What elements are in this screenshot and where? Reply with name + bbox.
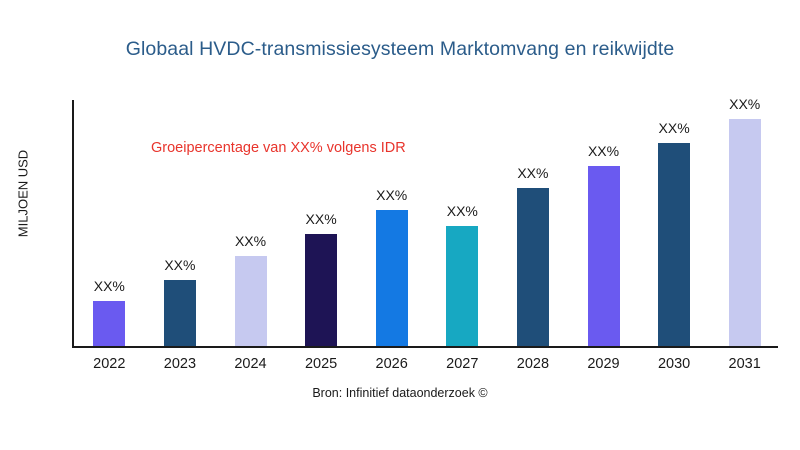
- bar-value-label: XX%: [447, 203, 478, 219]
- bar-2022: XX%: [93, 301, 125, 346]
- x-tick-2028: 2028: [517, 356, 549, 372]
- bar-2026: XX%: [376, 210, 408, 346]
- bar-value-label: XX%: [306, 211, 337, 227]
- bar-2031: XX%: [729, 119, 761, 346]
- bar-value-label: XX%: [94, 278, 125, 294]
- x-axis-line: [72, 346, 778, 348]
- source-note: Bron: Infinitief dataonderzoek ©: [0, 386, 800, 400]
- bar-2029: XX%: [588, 166, 620, 346]
- x-tick-2022: 2022: [93, 356, 125, 372]
- y-axis-label: MILJOEN USD: [16, 94, 31, 294]
- x-tick-2026: 2026: [376, 356, 408, 372]
- bar-chart: Globaal HVDC-transmissiesysteem Marktomv…: [0, 0, 800, 450]
- plot-area: XX%XX%XX%XX%XX%XX%XX%XX%XX%XX% 202220232…: [72, 100, 778, 348]
- bar-value-label: XX%: [164, 257, 195, 273]
- bar-value-label: XX%: [588, 143, 619, 159]
- bar-2025: XX%: [305, 234, 337, 346]
- bar-2024: XX%: [235, 256, 267, 346]
- x-tick-2029: 2029: [587, 356, 619, 372]
- bar-value-label: XX%: [659, 120, 690, 136]
- x-tick-2027: 2027: [446, 356, 478, 372]
- chart-title: Globaal HVDC-transmissiesysteem Marktomv…: [0, 38, 800, 61]
- bar-value-label: XX%: [517, 165, 548, 181]
- x-tick-2025: 2025: [305, 356, 337, 372]
- bar-value-label: XX%: [729, 96, 760, 112]
- bar-value-label: XX%: [235, 233, 266, 249]
- bar-2027: XX%: [446, 226, 478, 346]
- bar-2023: XX%: [164, 280, 196, 346]
- x-tick-2030: 2030: [658, 356, 690, 372]
- bar-value-label: XX%: [376, 187, 407, 203]
- y-axis-line: [72, 100, 74, 348]
- bar-2030: XX%: [658, 143, 690, 346]
- bar-2028: XX%: [517, 188, 549, 346]
- x-tick-2024: 2024: [234, 356, 266, 372]
- x-tick-2031: 2031: [729, 356, 761, 372]
- x-tick-2023: 2023: [164, 356, 196, 372]
